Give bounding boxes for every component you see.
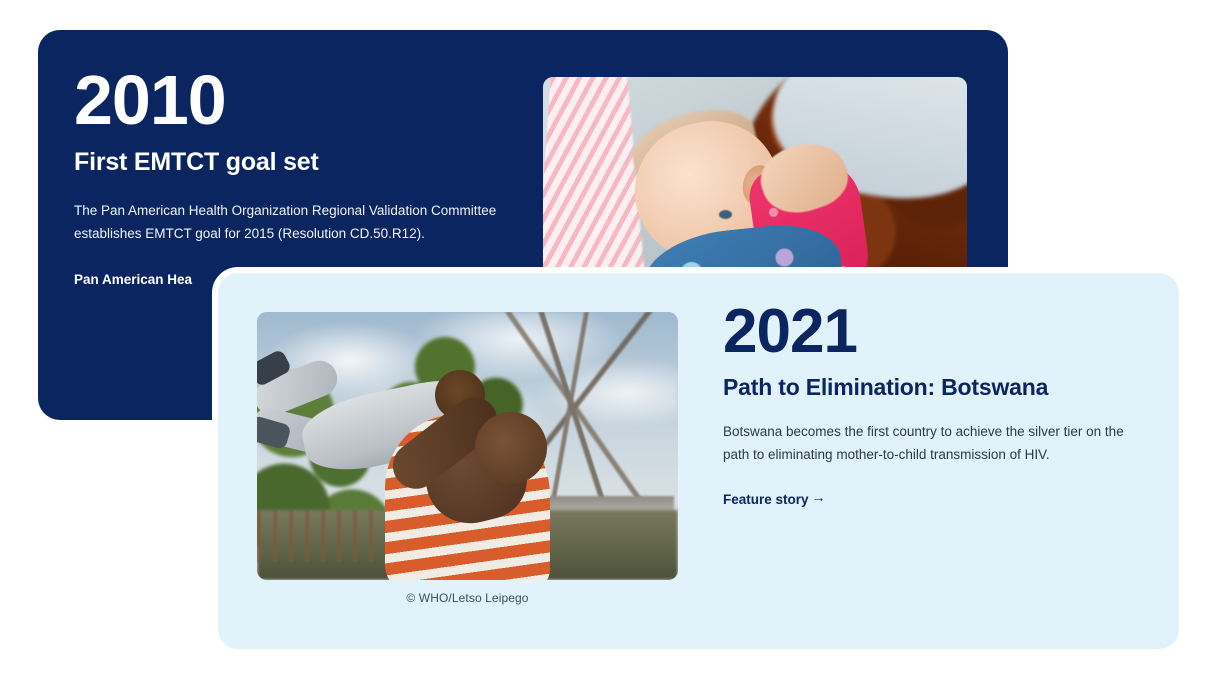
card-2010-year: 2010 — [74, 66, 504, 135]
feature-story-label: Feature story — [723, 492, 809, 507]
photo-baby-eye — [719, 210, 732, 219]
card-2010-body: The Pan American Health Organization Reg… — [74, 199, 504, 245]
timeline-card-2021[interactable]: © WHO/Letso Leipego 2021 Path to Elimina… — [212, 267, 1185, 655]
card-2021-body: Botswana becomes the first country to ac… — [723, 420, 1143, 467]
card-2021-photo — [257, 312, 678, 580]
card-2021-inner: © WHO/Letso Leipego 2021 Path to Elimina… — [218, 273, 1179, 649]
card-2021-year: 2021 — [723, 301, 1143, 363]
card-2021-title: Path to Elimination: Botswana — [723, 373, 1143, 402]
feature-story-link[interactable]: Feature story→ — [723, 489, 826, 507]
card-2010-title: First EMTCT goal set — [74, 147, 504, 177]
card-2010-text-block: 2010 First EMTCT goal set The Pan Americ… — [74, 66, 504, 291]
timeline-card-stage: 2010 First EMTCT goal set The Pan Americ… — [0, 0, 1220, 687]
card-2021-photo-credit: © WHO/Letso Leipego — [257, 591, 678, 605]
arrow-right-icon: → — [812, 489, 826, 505]
card-2021-text-block: 2021 Path to Elimination: Botswana Botsw… — [723, 301, 1143, 509]
card-2010-photo — [543, 77, 967, 299]
